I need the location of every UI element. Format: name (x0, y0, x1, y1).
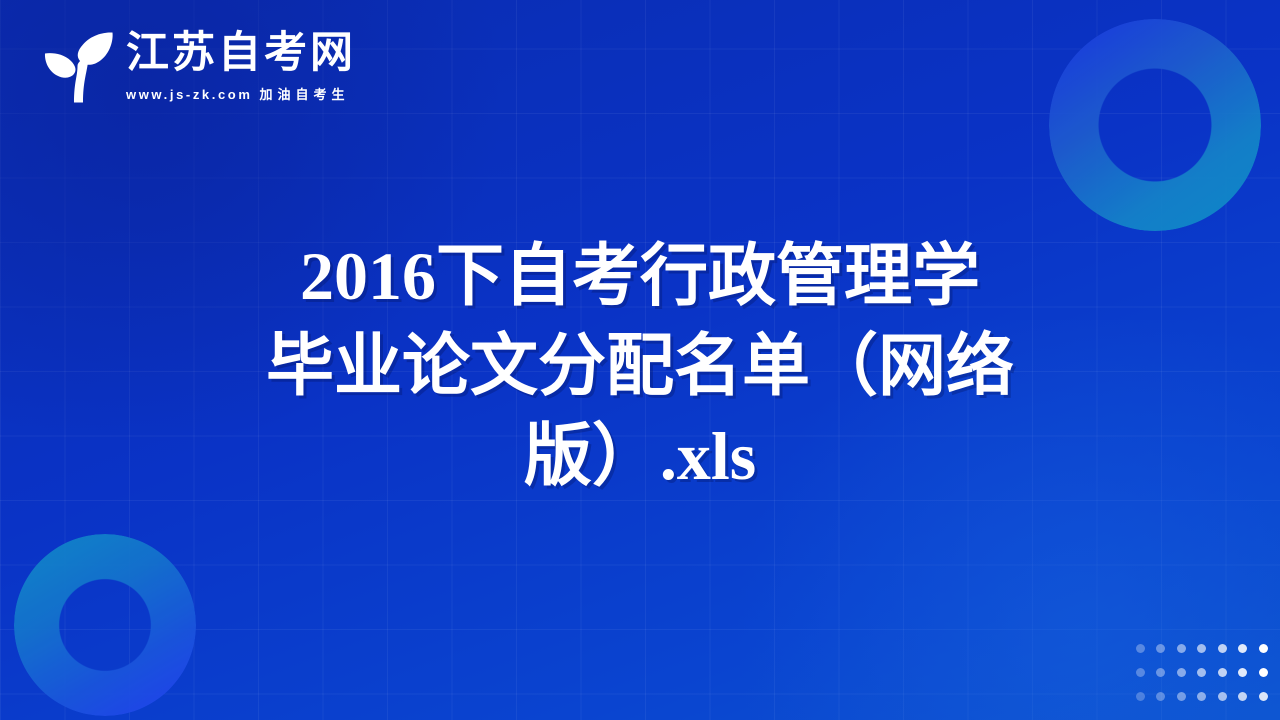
grid-dot (1218, 644, 1227, 653)
grid-dot (1197, 644, 1206, 653)
ring-bottom-left-stroke (14, 534, 196, 716)
logo-text-block: 江苏自考网 www.js-zk.com加油自考生 (126, 31, 356, 103)
sprout-seedling-icon (36, 24, 122, 110)
grid-dot (1136, 692, 1145, 701)
grid-dot (1177, 644, 1186, 653)
grid-dot (1218, 692, 1227, 701)
grid-dot (1156, 644, 1165, 653)
grid-dot (1238, 668, 1247, 677)
page-title-line: 版）.xls (150, 412, 1130, 502)
page-title-line: 2016下自考行政管理学 (150, 232, 1130, 322)
grid-dot (1238, 692, 1247, 701)
grid-dot (1136, 668, 1145, 677)
grid-dot (1259, 668, 1268, 677)
grid-dot (1156, 668, 1165, 677)
grid-dot (1197, 692, 1206, 701)
decorative-ring-bottom-left (14, 534, 196, 716)
grid-dot (1218, 668, 1227, 677)
site-logo[interactable]: 江苏自考网 www.js-zk.com加油自考生 (36, 24, 356, 110)
grid-dot (1177, 692, 1186, 701)
grid-dot (1156, 692, 1165, 701)
logo-tagline-slogan: 加油自考生 (260, 87, 350, 102)
logo-tagline: www.js-zk.com加油自考生 (126, 84, 356, 103)
grid-dot (1259, 692, 1268, 701)
logo-title: 江苏自考网 (126, 31, 356, 77)
decorative-ring-top-right (1049, 19, 1261, 231)
grid-dot (1238, 644, 1247, 653)
grid-dot (1136, 644, 1145, 653)
page-title: 2016下自考行政管理学 毕业论文分配名单（网络 版）.xls (0, 232, 1280, 501)
cover-card: 江苏自考网 www.js-zk.com加油自考生 2016下自考行政管理学 毕业… (0, 0, 1280, 720)
grid-dot (1197, 668, 1206, 677)
ring-top-right-stroke (1049, 19, 1261, 231)
grid-dot (1177, 668, 1186, 677)
grid-dot (1259, 644, 1268, 653)
decorative-dot-grid (1130, 636, 1274, 708)
logo-tagline-url: www.js-zk.com (126, 87, 253, 102)
page-title-line: 毕业论文分配名单（网络 (150, 322, 1130, 412)
